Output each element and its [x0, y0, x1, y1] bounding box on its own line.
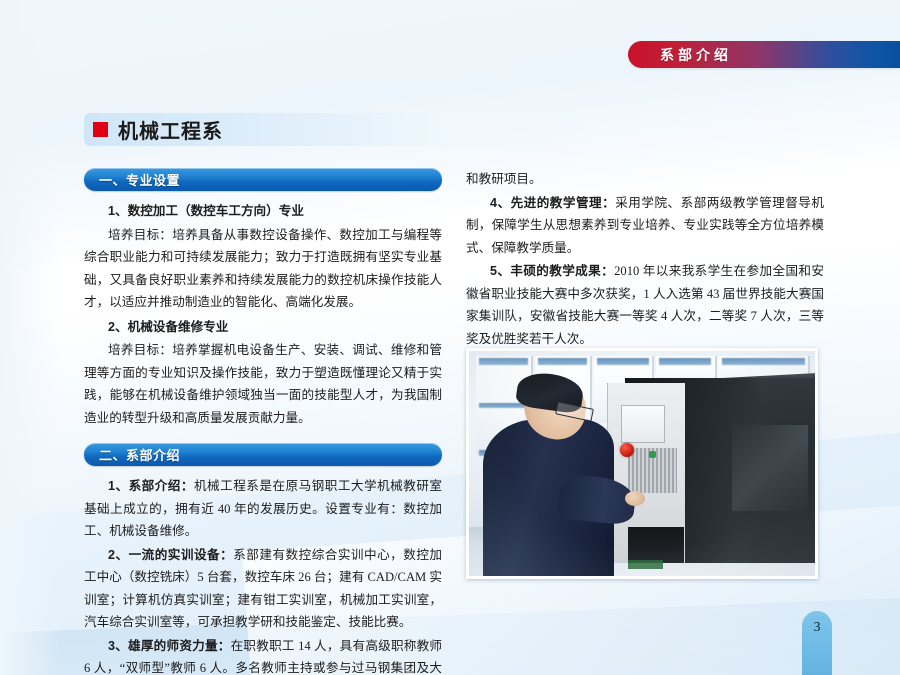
section-spacer	[84, 430, 442, 443]
square-bullet-icon	[93, 122, 108, 137]
page-title: 机械工程系	[118, 115, 223, 144]
major-2-body: 培养目标：培养掌握机电设备生产、安装、调试、维修和管理等方面的专业知识及操作技能…	[84, 339, 442, 429]
right-column: 和教研项目。 4、先进的教学管理：采用学院、系部两级教学管理督导机制，保障学生从…	[466, 168, 824, 351]
major-1-heading: 1、数控加工（数控车工方向）专业	[84, 200, 442, 223]
section-header-dept-label: 二、系部介绍	[84, 445, 180, 464]
department-title-bar: 机械工程系	[84, 113, 624, 146]
page-number: 3	[814, 620, 821, 675]
major-1-body: 培养目标：培养具备从事数控设备操作、数控加工与编程等综合职业能力和可持续发展能力…	[84, 224, 442, 314]
cnc-training-photo-frame	[466, 348, 818, 579]
dept-item-3: 3、雄厚的师资力量：在职教职工 14 人，具有高级职称教师 6 人，“双师型”教…	[84, 635, 442, 675]
dept-item-2: 2、一流的实训设备：系部建有数控综合实训中心，数控加工中心（数控铣床）5 台套，…	[84, 544, 442, 634]
cnc-training-photo	[469, 351, 815, 576]
dept-item-5: 5、丰硕的教学成果：2010 年以来我系学生在参加全国和安徽省职业技能大赛中多次…	[466, 260, 824, 350]
section-banner-label: 系部介绍	[628, 45, 732, 65]
dept-item-1: 1、系部介绍：机械工程系是在原马钢职工大学机械教研室基础上成立的，拥有近 40 …	[84, 475, 442, 543]
major-2-heading: 2、机械设备维修专业	[84, 316, 442, 339]
section-banner: 系部介绍	[628, 41, 900, 68]
section-header-dept: 二、系部介绍	[84, 443, 442, 466]
dept-item-4: 4、先进的教学管理：采用学院、系部两级教学管理督导机制，保障学生从思想素养到专业…	[466, 192, 824, 260]
background-left-fade	[0, 0, 60, 675]
dept-item-2-label: 2、一流的实训设备：	[108, 548, 233, 562]
section-header-majors-label: 一、专业设置	[84, 170, 180, 189]
dept-item-4-label: 4、先进的教学管理：	[490, 196, 615, 210]
photo-vignette	[469, 351, 815, 576]
dept-item-3-label: 3、雄厚的师资力量：	[108, 639, 231, 653]
left-column: 一、专业设置 1、数控加工（数控车工方向）专业 培养目标：培养具备从事数控设备操…	[84, 168, 442, 675]
dept-item-5-label: 5、丰硕的教学成果：	[490, 264, 614, 278]
brochure-page: 系部介绍 机械工程系 一、专业设置 1、数控加工（数控车工方向）专业 培养目标：…	[0, 0, 900, 675]
dept-item-1-label: 1、系部介绍：	[108, 479, 194, 493]
section-header-majors: 一、专业设置	[84, 168, 442, 191]
page-number-tab: 3	[802, 611, 832, 675]
continued-text: 和教研项目。	[466, 168, 824, 191]
